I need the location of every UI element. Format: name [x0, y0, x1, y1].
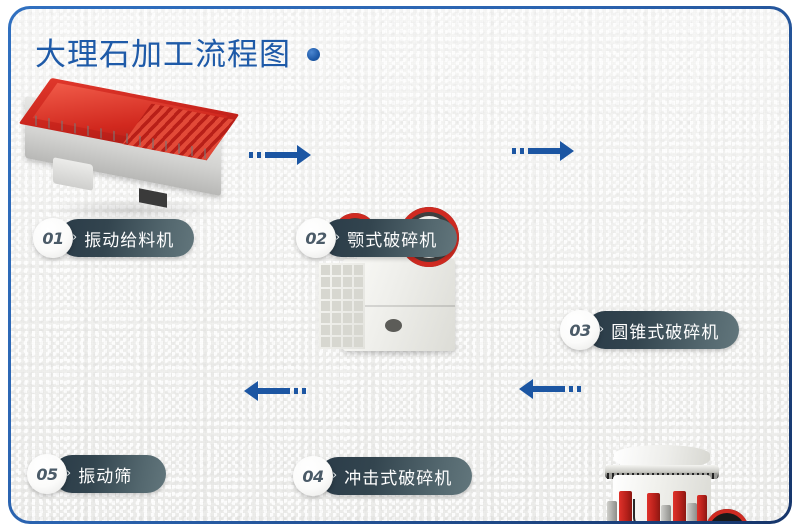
arrow-dash — [302, 388, 306, 394]
step-badge-01: 01 — [33, 218, 73, 258]
page-title: 大理石加工流程图 — [35, 29, 291, 74]
step-label-02[interactable]: 02 › 颚式破碎机 — [296, 219, 457, 257]
step-badge-05: 05 — [27, 454, 67, 494]
step-pill-03[interactable]: › 圆锥式破碎机 — [586, 311, 739, 349]
arrow-03-to-04 — [519, 379, 581, 399]
arrow-head-icon — [560, 141, 574, 161]
jaw-discharge-port — [385, 319, 402, 332]
step-pill-05[interactable]: › 振动筛 — [53, 455, 166, 493]
equipment-cone-crusher — [581, 429, 761, 521]
step-label-05[interactable]: 05 › 振动筛 — [27, 455, 166, 493]
step-badge-02: 02 — [296, 218, 336, 258]
cone-piston-left — [607, 501, 617, 521]
title-row: 大理石加工流程图 — [35, 29, 320, 74]
arrow-dash — [520, 148, 524, 154]
step-label-03[interactable]: 03 › 圆锥式破碎机 — [560, 311, 739, 349]
feeder-shadow — [47, 199, 217, 221]
arrow-dash — [569, 386, 573, 392]
cone-hydraulic-cylinder-2 — [647, 493, 660, 521]
step-label-text-02: 颚式破碎机 — [347, 226, 437, 251]
step-label-text-05: 振动筛 — [78, 462, 132, 487]
arrow-dash — [577, 386, 581, 392]
marble-processing-flowchart: 大理石加工流程图 — [0, 0, 800, 530]
arrow-head-icon — [244, 381, 258, 401]
cone-hydraulic-cylinder-3 — [673, 491, 686, 521]
arrow-dash — [512, 148, 516, 154]
step-label-text-04: 冲击式破碎机 — [344, 464, 452, 489]
step-label-04[interactable]: 04 › 冲击式破碎机 — [293, 457, 472, 495]
arrow-02-to-03 — [512, 141, 574, 161]
arrow-shaft — [265, 152, 297, 158]
arrow-dash — [257, 152, 261, 158]
cone-hydraulic-cylinder-4 — [697, 495, 707, 521]
title-dot-icon — [307, 48, 320, 61]
arrow-dash — [294, 388, 298, 394]
step-badge-03: 03 — [560, 310, 600, 350]
arrow-head-icon — [297, 145, 311, 165]
arrow-head-icon — [519, 379, 533, 399]
arrow-dash — [249, 152, 253, 158]
arrow-01-to-02 — [249, 145, 311, 165]
step-label-01[interactable]: 01 › 振动给料机 — [33, 219, 194, 257]
cone-piston-mid — [661, 505, 671, 521]
cone-hydraulic-cylinder-1 — [619, 491, 632, 521]
equipment-vibrating-feeder — [19, 87, 249, 217]
arrow-shaft — [258, 388, 290, 394]
cone-drive-pulley — [705, 509, 749, 521]
step-pill-02[interactable]: › 颚式破碎机 — [322, 219, 457, 257]
arrow-shaft — [528, 148, 560, 154]
arrow-04-to-05 — [244, 381, 306, 401]
step-label-text-01: 振动给料机 — [84, 226, 174, 251]
step-pill-04[interactable]: › 冲击式破碎机 — [319, 457, 472, 495]
step-label-text-03: 圆锥式破碎机 — [611, 318, 719, 343]
flowchart-canvas: 大理石加工流程图 — [11, 9, 789, 521]
step-badge-04: 04 — [293, 456, 333, 496]
arrow-shaft — [533, 386, 565, 392]
jaw-side-lattice — [319, 263, 365, 349]
step-pill-01[interactable]: › 振动给料机 — [59, 219, 194, 257]
cone-piston-right — [687, 503, 697, 521]
